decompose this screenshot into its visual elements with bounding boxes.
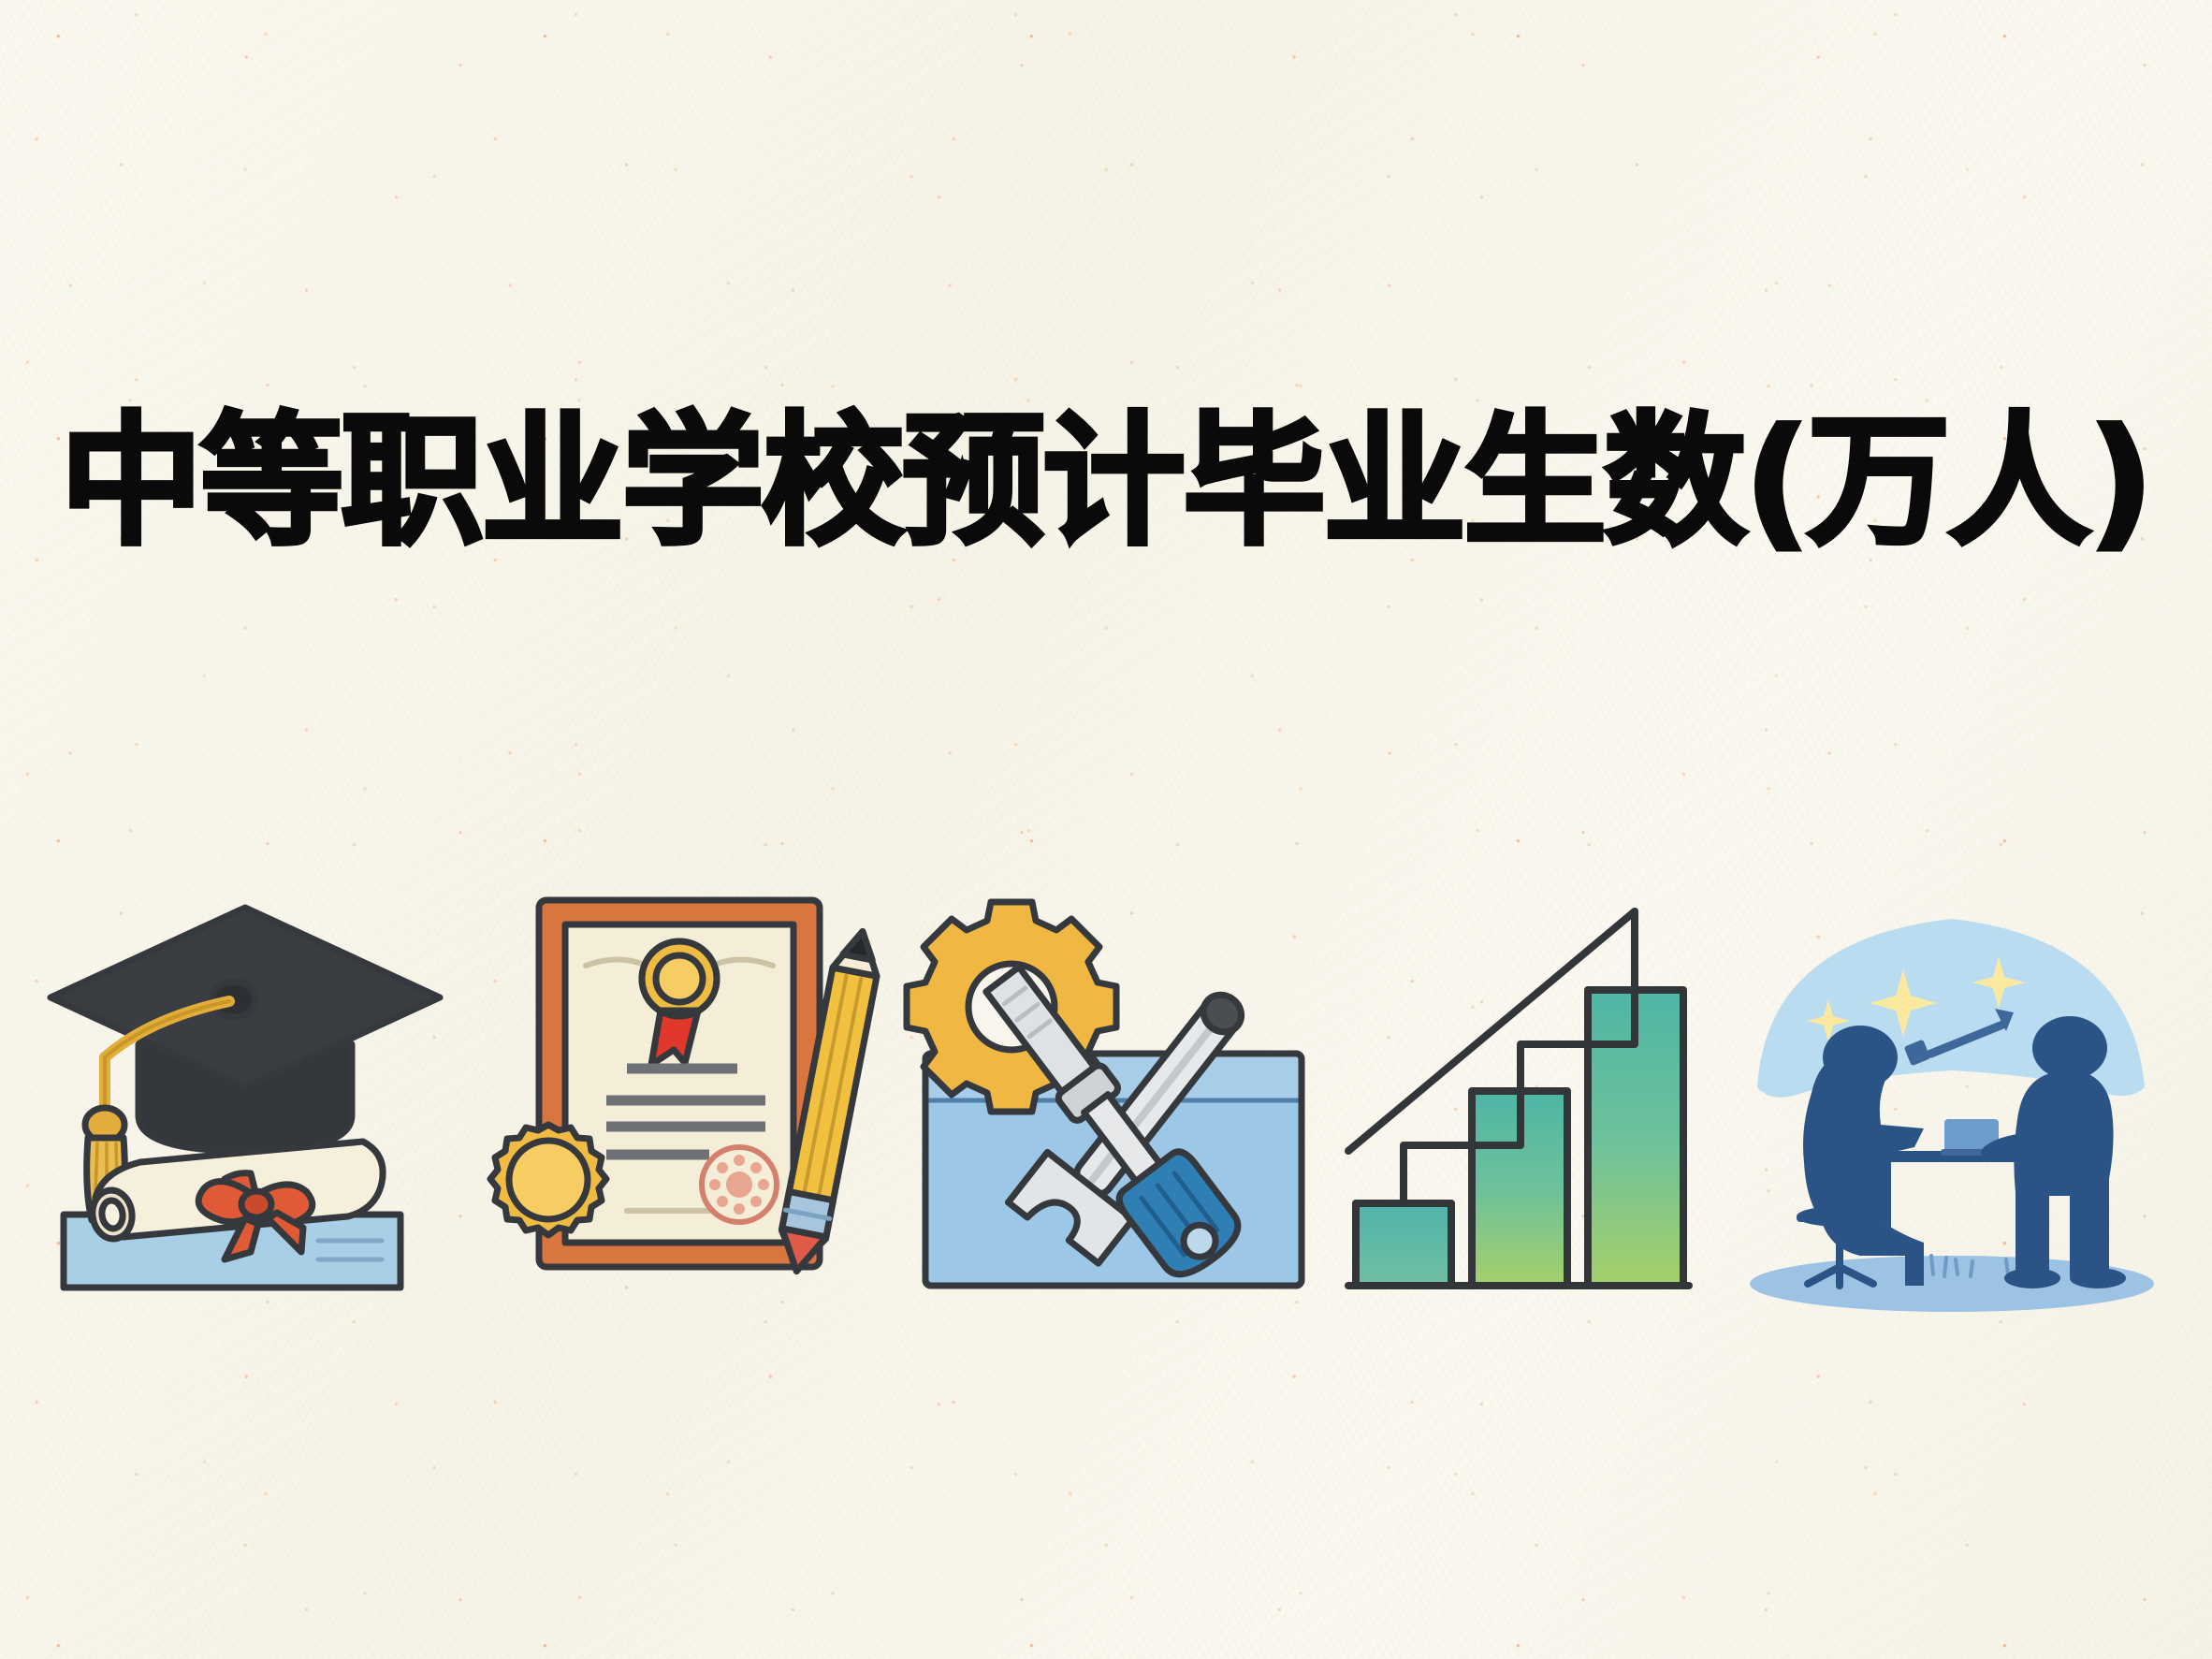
people-desk-discussion-icon — [1740, 870, 2161, 1319]
slide-root: 中等职业学校预计毕业生数(万人) — [0, 0, 2212, 1659]
certificate-pencil-icon — [468, 870, 898, 1319]
paper-texture-overlay — [0, 0, 2212, 1659]
illustration-row — [0, 870, 2212, 1319]
tools-gear-hammer-screwdriver-icon — [903, 870, 1324, 1319]
growth-bar-chart-icon — [1333, 870, 1708, 1319]
graduation-cap-diploma-icon — [37, 870, 449, 1319]
page-title: 中等职业学校预计毕业生数(万人) — [0, 402, 2212, 561]
